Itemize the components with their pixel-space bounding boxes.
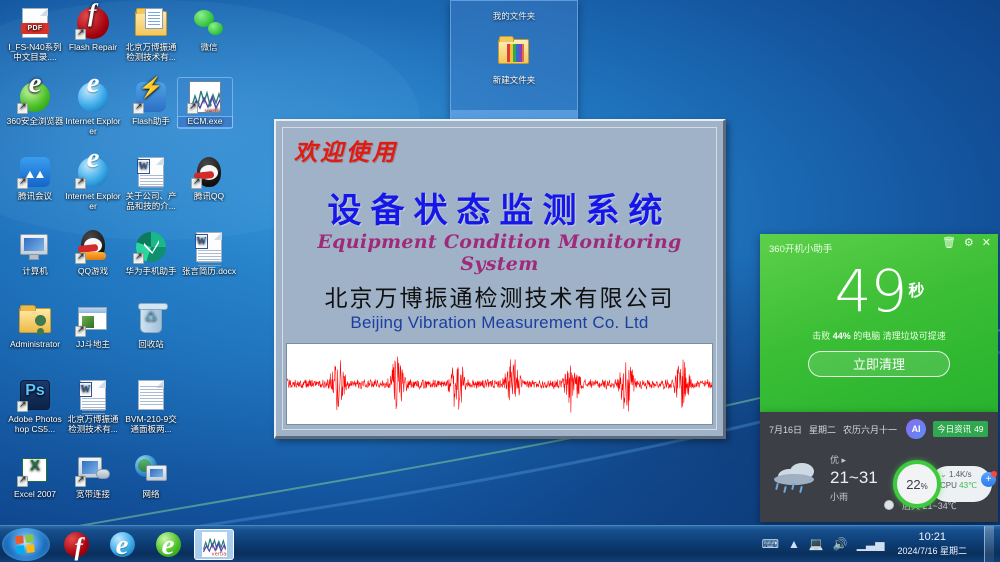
trash-icon[interactable]: 🗑 — [942, 238, 956, 249]
huawei-assistant-icon — [134, 230, 168, 264]
desktop-icon-label: 关于公司、产品和技的介... — [122, 192, 180, 211]
360-boot-assistant-widget[interactable]: 360开机小助手 🗑 ⚙ ✕ 49秒 击败 44% 的电脑 清理垃圾可提速 立即… — [760, 234, 998, 412]
folder-window-title: 我的文件夹 — [451, 1, 577, 22]
desktop-icon-label: BVM-210-9交通面板两... — [122, 415, 180, 434]
network-icon — [134, 453, 168, 487]
splash-company-chinese: 北京万博振通检测技术有限公司 — [276, 279, 723, 313]
start-button[interactable] — [2, 528, 50, 561]
desktop-icon-excel-2007[interactable]: Excel 2007 — [6, 453, 64, 500]
folder-window[interactable]: 我的文件夹 新建文件夹 — [450, 0, 578, 120]
desktop-icon-label: 北京万博振通检测技术有... — [64, 415, 122, 434]
photoshop-icon — [18, 378, 52, 412]
desktop-icon-recycle-bin[interactable]: 回收站 — [122, 303, 180, 350]
sun-icon — [880, 497, 898, 513]
desktop-icon-qq-games[interactable]: QQ游戏 — [64, 230, 122, 277]
vibration-waveform-panel — [286, 343, 713, 425]
word-document-icon: W — [76, 378, 110, 412]
pdf-document-icon: PDF — [18, 6, 52, 40]
internet-explorer-taskbar-item[interactable] — [102, 529, 142, 560]
splash-screen[interactable]: 欢迎使用 设备状态监测系统 Equipment Condition Monito… — [274, 119, 726, 439]
weather-info-bar[interactable]: 7月16日 星期二 农历六月十一 AI 今日资讯 49 优 ▸ 21~31 小雨… — [760, 412, 998, 522]
desktop-icon-label: 计算机 — [6, 267, 64, 277]
desktop-icon-tencent-meeting[interactable]: 腾讯会议 — [6, 155, 64, 202]
splash-title-chinese: 设备状态监测系统 — [276, 183, 723, 232]
recycle-bin-icon — [134, 303, 168, 337]
desktop-icon-label: 腾讯QQ — [180, 192, 238, 202]
desktop-icon-administrator[interactable]: Administrator — [6, 303, 64, 350]
desktop-icon-label: Administrator — [6, 340, 64, 350]
desktop-icon-broadband-connection[interactable]: 宽带连接 — [64, 453, 122, 500]
desktop-icon-flash-repair[interactable]: Flash Repair — [64, 6, 122, 53]
weather-date-row: 7月16日 星期二 农历六月十一 AI 今日资讯 49 — [760, 412, 998, 439]
weather-condition: 小雨 — [830, 490, 878, 503]
subtitle-prefix: 击败 — [812, 331, 830, 341]
folder-window-item-label: 新建文件夹 — [493, 75, 536, 85]
desktop-icon-huawei-assistant[interactable]: 华为手机助手 — [122, 230, 180, 277]
folder-window-item[interactable]: 新建文件夹 — [483, 35, 545, 88]
air-quality-row[interactable]: 优 ▸ — [830, 453, 878, 466]
widget-title: 360开机小助手 — [769, 244, 832, 255]
desktop-icon-grid: PDF I_FS-N40系列中文目录.... Flash Repair 北京万博… — [0, 0, 250, 520]
desktop-icon-label: JJ斗地主 — [64, 340, 122, 350]
weather-weekday: 星期二 — [809, 423, 836, 436]
flash-repair-icon — [76, 6, 110, 40]
desktop-icon-label: Internet Explorer — [64, 192, 122, 211]
signal-icon[interactable]: ▁▃▅ — [857, 538, 885, 550]
desktop-icon-jj-game[interactable]: JJ斗地主 — [64, 303, 122, 350]
qq-games-icon — [76, 230, 110, 264]
weather-lunar: 农历六月十一 — [843, 423, 897, 436]
weather-temperature-block: 优 ▸ 21~31 小雨 — [830, 453, 878, 503]
splash-title-english: Equipment Condition Monitoring System — [276, 231, 723, 275]
splash-company-english: Beijing Vibration Measurement Co. Ltd — [276, 313, 723, 333]
ecm-taskbar-item[interactable]: vertian — [194, 529, 234, 560]
svg-text:vertian: vertian — [205, 108, 221, 113]
tencent-meeting-icon — [18, 155, 52, 189]
wechat-icon — [192, 6, 226, 40]
desktop-icon-bvm-210-doc[interactable]: BVM-210-9交通面板两... — [122, 378, 180, 434]
network-speed-value: 1.4K/s — [949, 470, 972, 479]
system-tray: ⌨ ▲ 💻 🔊 ▁▃▅ 10:21 2024/7/16 星期二 — [762, 526, 1000, 562]
computer-icon — [18, 230, 52, 264]
weather-body: 优 ▸ 21~31 小雨 后天 21~34℃ ⌄ 1.4K/s CPU 43℃ … — [760, 439, 998, 517]
cpu-usage-number: 22 — [906, 477, 920, 492]
cpu-label: CPU — [940, 481, 957, 490]
jj-game-icon — [76, 303, 110, 337]
widget-header: 360开机小助手 🗑 ⚙ ✕ — [760, 234, 998, 256]
ie-icon — [110, 532, 135, 557]
cpu-temp-value: 43℃ — [959, 481, 977, 490]
desktop-icon-label: Excel 2007 — [6, 490, 64, 500]
desktop-icon-360-browser[interactable]: 360安全浏览器 — [6, 80, 64, 127]
internet-explorer-icon — [76, 80, 110, 114]
desktop-icon-label: ECM.exe — [178, 117, 232, 127]
clock-time: 10:21 — [897, 531, 967, 543]
360-browser-icon — [18, 80, 52, 114]
download-arrow-icon: ⌄ — [940, 470, 947, 479]
show-hidden-icons-icon[interactable]: ▲ — [788, 538, 800, 550]
clean-now-button[interactable]: 立即清理 — [808, 351, 950, 377]
vibration-waveform-chart — [287, 344, 712, 424]
desktop-icon-tencent-qq[interactable]: 腾讯QQ — [180, 155, 238, 202]
cpu-usage-ring[interactable]: 22% — [893, 460, 941, 508]
subtitle-suffix: 的电脑 清理垃圾可提速 — [853, 331, 946, 341]
flash-helper-icon — [134, 80, 168, 114]
windows-logo-icon — [15, 534, 37, 555]
broadband-connection-icon — [76, 453, 110, 487]
widget-subtitle: 击败 44% 的电脑 清理垃圾可提速 — [760, 329, 998, 342]
flash-icon — [64, 532, 89, 557]
internet-explorer-icon — [76, 155, 110, 189]
desktop-icon-label: 360安全浏览器 — [6, 117, 64, 127]
boot-time-value: 49秒 — [760, 262, 998, 320]
excel-icon — [18, 453, 52, 487]
desktop-icon-label: QQ游戏 — [64, 267, 122, 277]
news-badge[interactable]: 今日资讯 49 — [933, 421, 987, 437]
desktop-icon-photoshop[interactable]: Adobe Photoshop CS5... — [6, 378, 64, 434]
ai-badge[interactable]: AI — [906, 419, 926, 439]
chevron-right-icon: ▸ — [842, 455, 847, 465]
splash-welcome-text: 欢迎使用 — [294, 133, 398, 167]
desktop-icon-label: 张言简历.docx — [180, 267, 238, 277]
desktop-icon-wechat[interactable]: 微信 — [180, 6, 238, 53]
svg-text:vertian: vertian — [211, 551, 226, 556]
colored-folder-icon — [497, 35, 531, 67]
desktop-icon-network[interactable]: 网络 — [122, 453, 180, 500]
desktop-icon-pdf-catalog[interactable]: PDF I_FS-N40系列中文目录.... — [6, 6, 64, 62]
desktop-icon-bvm-word-doc[interactable]: W 北京万博振通检测技术有... — [64, 378, 122, 434]
desktop-icon-label: 网络 — [122, 490, 180, 500]
desktop-icon-label: 微信 — [180, 43, 238, 53]
word-document-icon: W — [192, 230, 226, 264]
word-document-icon: W — [134, 155, 168, 189]
boot-seconds-unit: 秒 — [908, 281, 923, 300]
desktop-icon-internet-explorer[interactable]: Internet Explorer — [64, 80, 122, 136]
desktop-icon-company-intro-doc[interactable]: W 关于公司、产品和技的介... — [122, 155, 180, 211]
clock-date: 2024/7/16 星期二 — [897, 545, 967, 557]
close-icon[interactable]: ✕ — [982, 238, 991, 249]
desktop-icon-ecm-exe[interactable]: vertian ECM.exe — [178, 78, 232, 128]
desktop-icon-label: Adobe Photoshop CS5... — [6, 415, 64, 434]
subtitle-percent: 44% — [833, 331, 851, 341]
flash-player-taskbar-item[interactable] — [56, 529, 96, 560]
boot-seconds: 49 — [835, 257, 907, 325]
desktop-icon-flash-helper[interactable]: Flash助手 — [122, 80, 180, 127]
news-badge-label: 今日资讯 — [937, 423, 971, 435]
taskbar-clock[interactable]: 10:21 2024/7/16 星期二 — [893, 531, 971, 557]
keyboard-ime-icon[interactable]: ⌨ — [762, 538, 779, 550]
desktop-icon-computer[interactable]: 计算机 — [6, 230, 64, 277]
gear-icon[interactable]: ⚙ — [964, 238, 974, 249]
rain-cloud-icon — [774, 461, 820, 485]
network-icon[interactable]: 💻 — [809, 538, 824, 550]
cpu-usage-value: 22% — [906, 477, 928, 492]
desktop-icon-resume-docx[interactable]: W 张言简历.docx — [180, 230, 238, 277]
add-plus-icon[interactable]: + — [981, 472, 996, 487]
desktop-icon-label: Flash Repair — [64, 43, 122, 53]
weather-date: 7月16日 — [769, 423, 802, 436]
desktop-icon-label: Internet Explorer — [64, 117, 122, 136]
desktop-icon-label: 回收站 — [122, 340, 180, 350]
news-badge-count: 49 — [974, 424, 983, 434]
folder-icon — [134, 6, 168, 40]
taskbar: vertian ⌨ ▲ 💻 🔊 ▁▃▅ 10:21 2024/7/16 星期二 — [0, 525, 1000, 562]
document-icon — [134, 378, 168, 412]
desktop-icon-internet-explorer-2[interactable]: Internet Explorer — [64, 155, 122, 211]
rain-drops-icon — [770, 483, 810, 497]
desktop-icon-bvm-folder[interactable]: 北京万博振通检测技术有... — [122, 6, 180, 62]
ecm-app-icon: vertian — [188, 80, 222, 114]
desktop-icon-label: 北京万博振通检测技术有... — [122, 43, 180, 62]
qq-icon — [192, 155, 226, 189]
show-desktop-button[interactable] — [984, 526, 994, 562]
temperature-range: 21~31 — [830, 468, 878, 488]
desktop-icon-label: I_FS-N40系列中文目录.... — [6, 43, 64, 62]
desktop-icon-label: 宽带连接 — [64, 490, 122, 500]
air-quality-label: 优 — [830, 455, 839, 465]
cpu-usage-unit: % — [921, 482, 928, 491]
volume-icon[interactable]: 🔊 — [833, 538, 848, 550]
360-browser-taskbar-item[interactable] — [148, 529, 188, 560]
user-folder-icon — [18, 303, 52, 337]
folder-window-bottom-strip — [451, 110, 577, 119]
desktop-icon-label: 华为手机助手 — [122, 267, 180, 277]
desktop-icon-label: Flash助手 — [122, 117, 180, 127]
360-browser-icon — [156, 532, 181, 557]
desktop-icon-label: 腾讯会议 — [6, 192, 64, 202]
ecm-app-icon: vertian — [202, 532, 227, 557]
